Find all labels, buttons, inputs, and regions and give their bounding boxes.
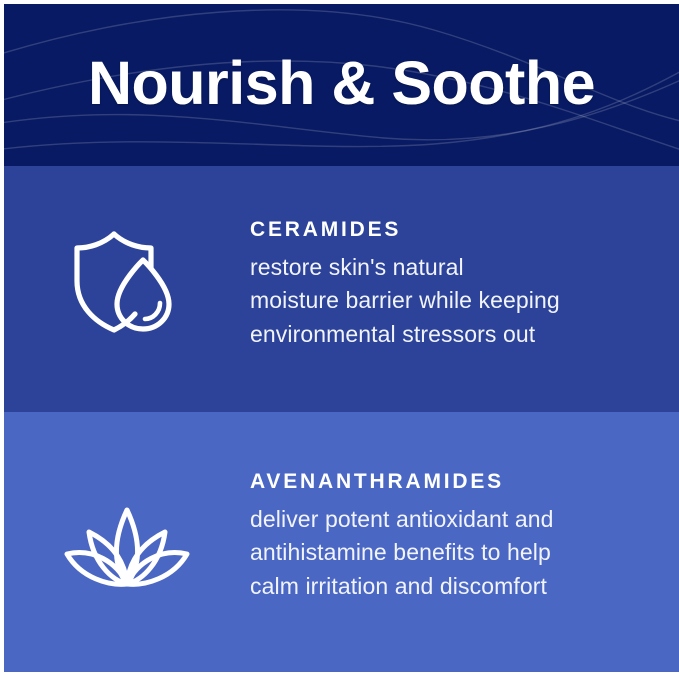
ceramides-icon-container [4,218,250,336]
avenanthramides-text-container: AVENANTHRAMIDES deliver potent antioxida… [250,470,679,603]
lotus-flower-icon [59,504,195,590]
page-title: Nourish & Soothe [4,4,679,166]
ingredient-title-ceramides: CERAMIDES [250,218,639,241]
poster-header: Nourish & Soothe [4,4,679,166]
ingredient-description-avenanthramides: deliver potent antioxidant and antihista… [250,503,639,603]
ceramides-text-container: CERAMIDES restore skin's natural moistur… [250,218,679,351]
description-line: moisture barrier while keeping [250,284,639,317]
ingredient-benefits-poster: Nourish & Soothe CERAMIDES restore skin'… [0,0,679,679]
description-line: antihistamine benefits to help [250,536,639,569]
shield-droplet-icon [67,228,187,336]
description-line: calm irritation and discomfort [250,570,639,603]
description-line: restore skin's natural [250,251,639,284]
description-line: environmental stressors out [250,318,639,351]
ingredient-title-avenanthramides: AVENANTHRAMIDES [250,470,639,493]
section-avenanthramides: AVENANTHRAMIDES deliver potent antioxida… [4,412,679,672]
description-line: deliver potent antioxidant and [250,503,639,536]
avenanthramides-icon-container [4,470,250,590]
section-ceramides: CERAMIDES restore skin's natural moistur… [4,166,679,412]
ingredient-description-ceramides: restore skin's natural moisture barrier … [250,251,639,351]
